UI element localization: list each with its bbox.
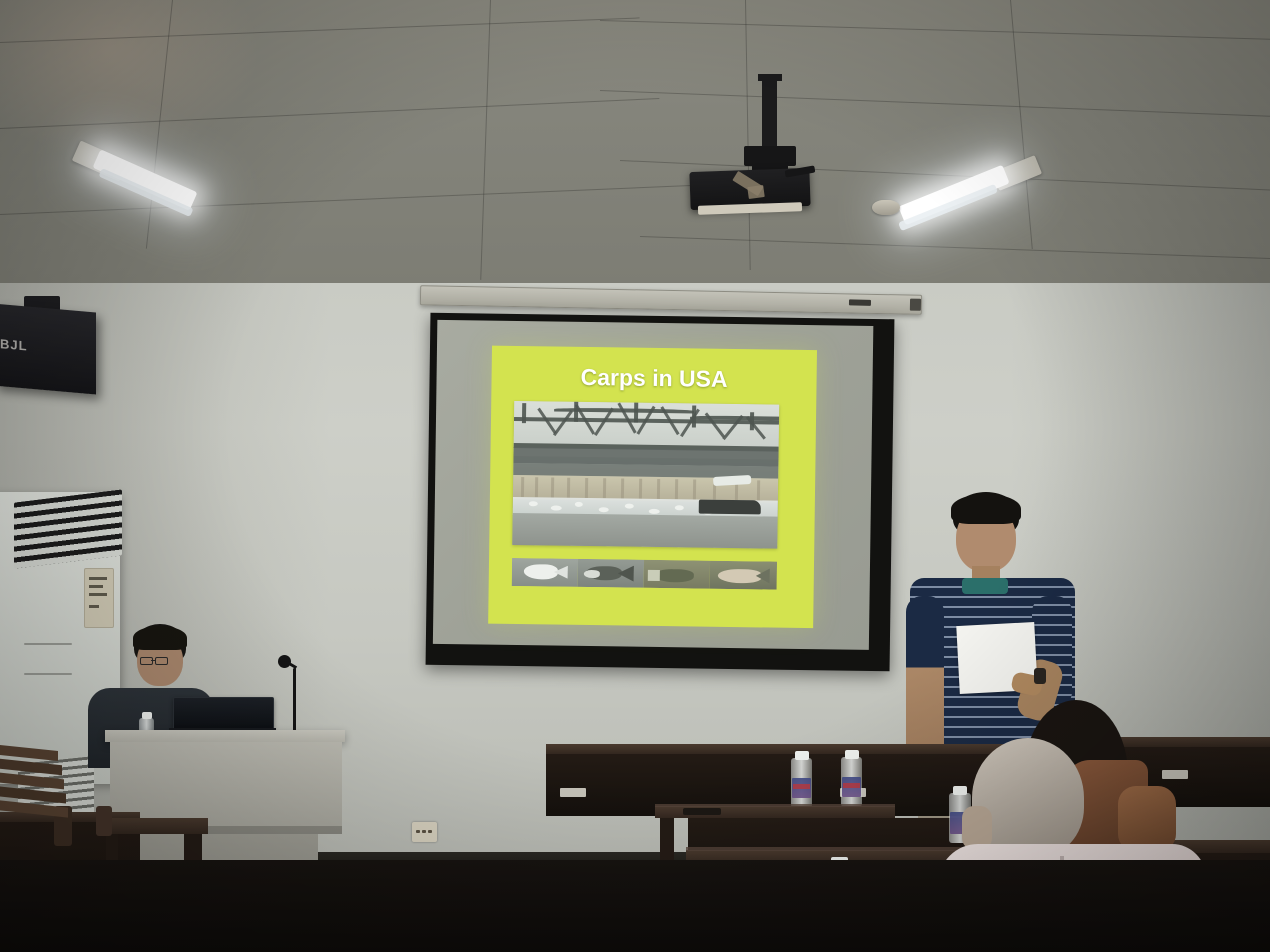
ceiling-seam [1010,0,1033,249]
chair-back [96,806,112,836]
desk-top [96,818,208,834]
ac-control-panel[interactable] [84,568,114,628]
floor [0,860,1270,952]
wristwatch [1034,668,1046,684]
desk-top [1108,737,1270,747]
slide-thumbnail [578,559,644,588]
presentation-slide: Carps in USA [488,346,817,629]
podium-top [105,730,345,742]
desk-tag [1162,770,1188,779]
ceiling-glow [0,0,260,160]
woman-top-detail [1118,786,1176,852]
shirt-collar [962,578,1008,594]
speaker-brand-label: BJL [0,336,28,353]
ceiling-seam [640,236,1270,259]
ceiling-seam [0,185,699,215]
slide-thumbnail [644,560,710,589]
ceiling [0,0,1270,285]
ac-vent-top [14,489,122,568]
ceiling-seam [480,0,491,280]
slide-main-photo [512,401,779,549]
projection-screen[interactable]: Carps in USA [426,313,895,671]
ceiling-seam [745,0,751,270]
screen-surface: Carps in USA [433,320,873,650]
lecture-hall-photo: BJL Carps in USA [0,0,1270,952]
ceiling-seam [600,20,1270,40]
slide-thumbnail [512,558,578,587]
left-arm [906,596,944,766]
slide-thumbnail-strip [512,558,777,590]
wall-power-outlet[interactable] [412,822,437,842]
boat [699,500,761,515]
ceiling-seam [600,90,1270,117]
desk-tag [560,788,586,797]
slide-title: Carps in USA [491,363,816,394]
glasses-icon [140,657,180,665]
slide-thumbnail [710,561,777,590]
smoke-detector-icon [872,200,900,215]
desk-item [683,808,721,815]
